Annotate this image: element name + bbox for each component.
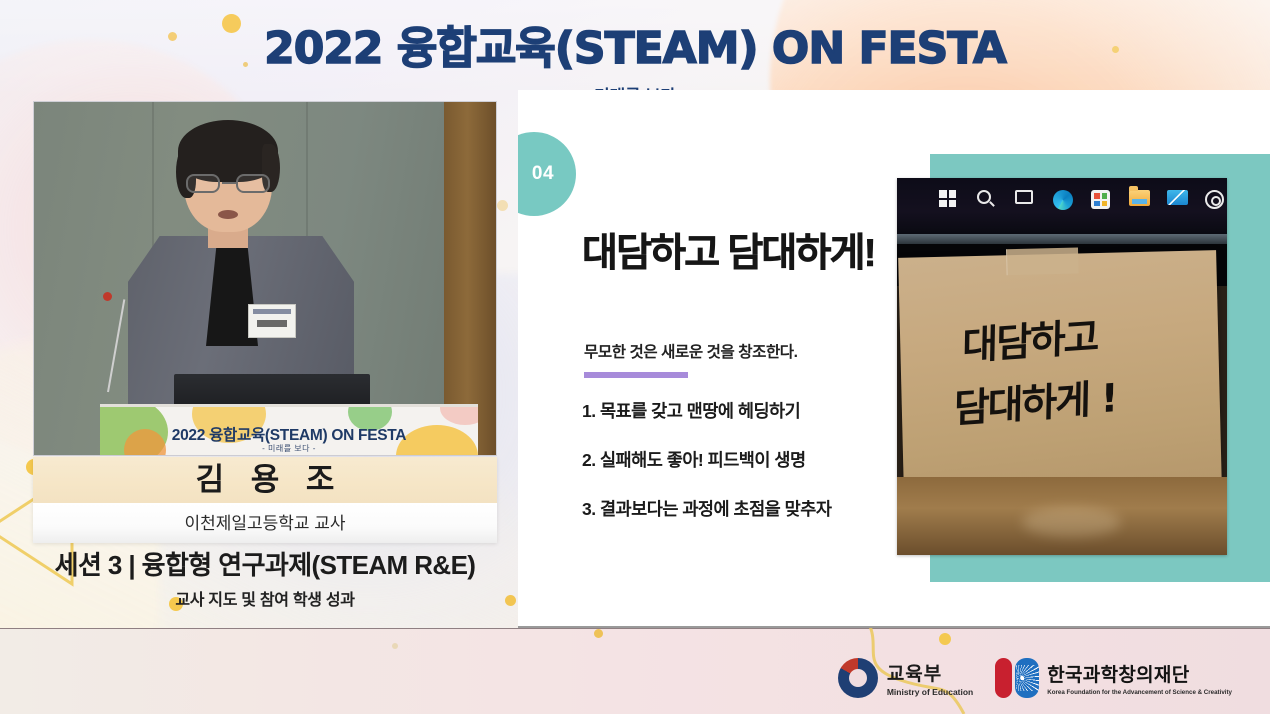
monitor-taskbar (897, 178, 1227, 234)
slide-tagline: 무모한 것은 새로운 것을 창조한다. (584, 340, 798, 362)
slide-tagline-underline (584, 372, 688, 378)
list-item: 2. 실패해도 좋아! 피드백이 생명 (582, 447, 831, 472)
wood-column (444, 102, 496, 455)
podium-banner: 2022 융합교육(STEAM) ON FESTA - 미래를 보다 - 교육부… (100, 404, 478, 455)
handwriting-line-2: 담대하게 ! (953, 367, 1117, 434)
presenter-glasses (186, 174, 272, 194)
microphone-head (103, 292, 112, 301)
slide-bullet-list: 1. 목표를 갖고 맨땅에 헤딩하기 2. 실패해도 좋아! 피드백이 생명 3… (582, 398, 831, 545)
session-subtitle: 교사 지도 및 참여 학생 성과 (33, 586, 497, 610)
session-title: 세션 3 | 융합형 연구과제(STEAM R&E) (33, 545, 497, 582)
presenter-affiliation: 이천제일고등학교 교사 (33, 509, 497, 534)
decor-dot-yellow-8 (594, 629, 603, 638)
masking-tape (1006, 248, 1079, 276)
session-info: 세션 3 | 융합형 연구과제(STEAM R&E) 교사 지도 및 참여 학생… (33, 545, 497, 610)
slide-section-badge: 04 (518, 132, 576, 216)
kofac-logo-en: Korea Foundation for the Advancement of … (1047, 689, 1232, 696)
file-explorer-icon (1129, 190, 1148, 209)
kraft-paper-sign: 대담하고 담대하게 ! (898, 250, 1222, 494)
slide-heading: 대담하고 담대하게! (582, 222, 875, 278)
presenter-figure (120, 118, 370, 408)
presenter-name-tag (248, 304, 296, 338)
footer-logos: 교육부 Ministry of Education 한국과학창의재단 Korea… (838, 658, 1232, 698)
list-item: 3. 결과보다는 과정에 초점을 맞추자 (582, 496, 831, 521)
event-title: 2022 융합교육(STEAM) ON FESTA (0, 12, 1270, 76)
presenter-mouth (218, 210, 238, 219)
settings-gear-icon (1205, 190, 1224, 209)
presenter-name-card: 김 용 조 이천제일고등학교 교사 (33, 457, 497, 543)
decor-dot-beige-2 (392, 643, 398, 649)
desk-surface (897, 477, 1227, 555)
presenter-video[interactable]: 2022 융합교육(STEAM) ON FESTA - 미래를 보다 - 교육부… (33, 101, 497, 456)
broadcast-stage: 2022 융합교육(STEAM) ON FESTA - 미래를 보다 - (0, 0, 1270, 714)
decor-dot-beige-1 (497, 200, 508, 211)
presenter-affiliation-band: 이천제일고등학교 교사 (33, 503, 497, 543)
edge-browser-icon (1053, 190, 1072, 209)
kofac-mark-icon (995, 658, 1039, 698)
taegeuk-icon (838, 658, 878, 698)
decor-dot-yellow-7 (505, 595, 516, 606)
presenter-name-band: 김 용 조 (33, 457, 497, 503)
presentation-slide[interactable]: 04 대담하고 담대하게! 무모한 것은 새로운 것을 창조한다. 1. 목표를… (518, 90, 1270, 628)
mail-icon (1167, 190, 1186, 209)
moe-logo: 교육부 Ministry of Education (838, 658, 973, 698)
podium-banner-title: 2022 융합교육(STEAM) ON FESTA (100, 423, 478, 445)
podium-banner-subtitle: - 미래를 보다 - (100, 443, 478, 454)
slide-section-number: 04 (518, 163, 554, 185)
moe-logo-en: Ministry of Education (887, 687, 973, 697)
microsoft-store-icon (1091, 190, 1110, 209)
task-view-icon (1015, 190, 1034, 209)
moe-logo-ko: 교육부 (887, 659, 973, 686)
windows-start-icon (939, 190, 958, 209)
presenter-name: 김 용 조 (33, 464, 497, 497)
slide-photo: 대담하고 담대하게 ! (897, 178, 1227, 555)
desk-highlight (1022, 507, 1121, 537)
taskbar-icon-group (939, 190, 1227, 209)
search-icon (977, 190, 996, 209)
kofac-logo-ko: 한국과학창의재단 (1047, 660, 1232, 687)
handwriting-line-1: 대담하고 (962, 306, 1098, 371)
list-item: 1. 목표를 갖고 맨땅에 헤딩하기 (582, 398, 831, 423)
kofac-logo: 한국과학창의재단 Korea Foundation for the Advanc… (995, 658, 1232, 698)
monitor-bottom-edge (897, 234, 1227, 244)
